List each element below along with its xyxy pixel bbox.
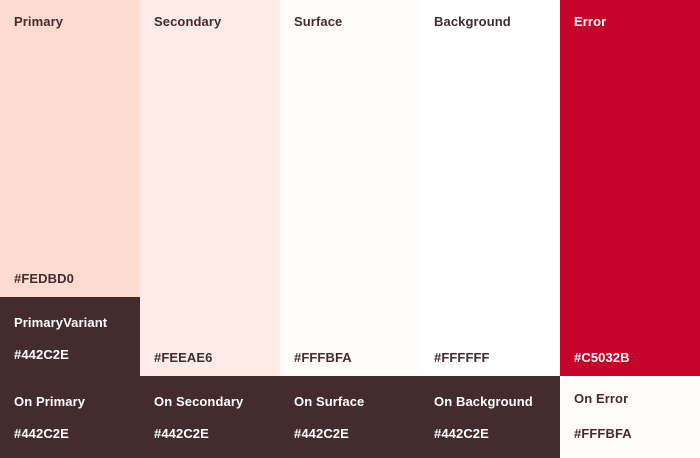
palette-column-error: Error#C5032BOn Error#FFFBFA bbox=[560, 0, 700, 458]
swatch-label-background: Background bbox=[434, 14, 511, 30]
swatch-hex-surface: #FFFBFA bbox=[294, 350, 352, 366]
swatch-surface[interactable]: Surface#FFFBFA bbox=[280, 0, 420, 376]
palette-column-surface: Surface#FFFBFAOn Surface#442C2E bbox=[280, 0, 420, 458]
palette-column-secondary: Secondary#FEEAE6On Secondary#442C2E bbox=[140, 0, 280, 458]
on-label-secondary: On Secondary bbox=[154, 394, 243, 410]
swatch-error[interactable]: Error#C5032B bbox=[560, 0, 700, 376]
swatch-primary[interactable]: Primary#FEDBD0 bbox=[0, 0, 140, 297]
swatch-background[interactable]: Background#FFFFFF bbox=[420, 0, 560, 376]
on-band-secondary[interactable]: On Secondary#442C2E bbox=[140, 376, 280, 458]
palette-column-background: Background#FFFFFFOn Background#442C2E bbox=[420, 0, 560, 458]
palette-column-primary: Primary#FEDBD0PrimaryVariant#442C2EOn Pr… bbox=[0, 0, 140, 458]
swatch-label-error: Error bbox=[574, 14, 606, 30]
on-hex-background: #442C2E bbox=[434, 426, 489, 442]
swatch-hex-primary-variant: #442C2E bbox=[14, 347, 69, 363]
on-hex-primary: #442C2E bbox=[14, 426, 69, 442]
on-label-primary: On Primary bbox=[14, 394, 85, 410]
swatch-hex-secondary: #FEEAE6 bbox=[154, 350, 213, 366]
on-hex-secondary: #442C2E bbox=[154, 426, 209, 442]
swatch-label-primary: Primary bbox=[14, 14, 63, 30]
swatch-secondary[interactable]: Secondary#FEEAE6 bbox=[140, 0, 280, 376]
on-label-background: On Background bbox=[434, 394, 533, 410]
color-palette-grid: Primary#FEDBD0PrimaryVariant#442C2EOn Pr… bbox=[0, 0, 700, 458]
swatch-hex-background: #FFFFFF bbox=[434, 350, 490, 366]
on-label-error: On Error bbox=[574, 391, 628, 407]
on-hex-surface: #442C2E bbox=[294, 426, 349, 442]
on-band-surface[interactable]: On Surface#442C2E bbox=[280, 376, 420, 458]
swatch-primary-variant[interactable]: PrimaryVariant#442C2E bbox=[0, 297, 140, 376]
swatch-label-surface: Surface bbox=[294, 14, 342, 30]
swatch-hex-primary: #FEDBD0 bbox=[14, 271, 74, 287]
on-hex-error: #FFFBFA bbox=[574, 426, 632, 442]
on-band-error[interactable]: On Error#FFFBFA bbox=[560, 376, 700, 458]
on-band-background[interactable]: On Background#442C2E bbox=[420, 376, 560, 458]
on-band-primary[interactable]: On Primary#442C2E bbox=[0, 376, 140, 458]
swatch-label-secondary: Secondary bbox=[154, 14, 221, 30]
swatch-hex-error: #C5032B bbox=[574, 350, 630, 366]
swatch-label-primary-variant: PrimaryVariant bbox=[14, 315, 107, 331]
on-label-surface: On Surface bbox=[294, 394, 364, 410]
